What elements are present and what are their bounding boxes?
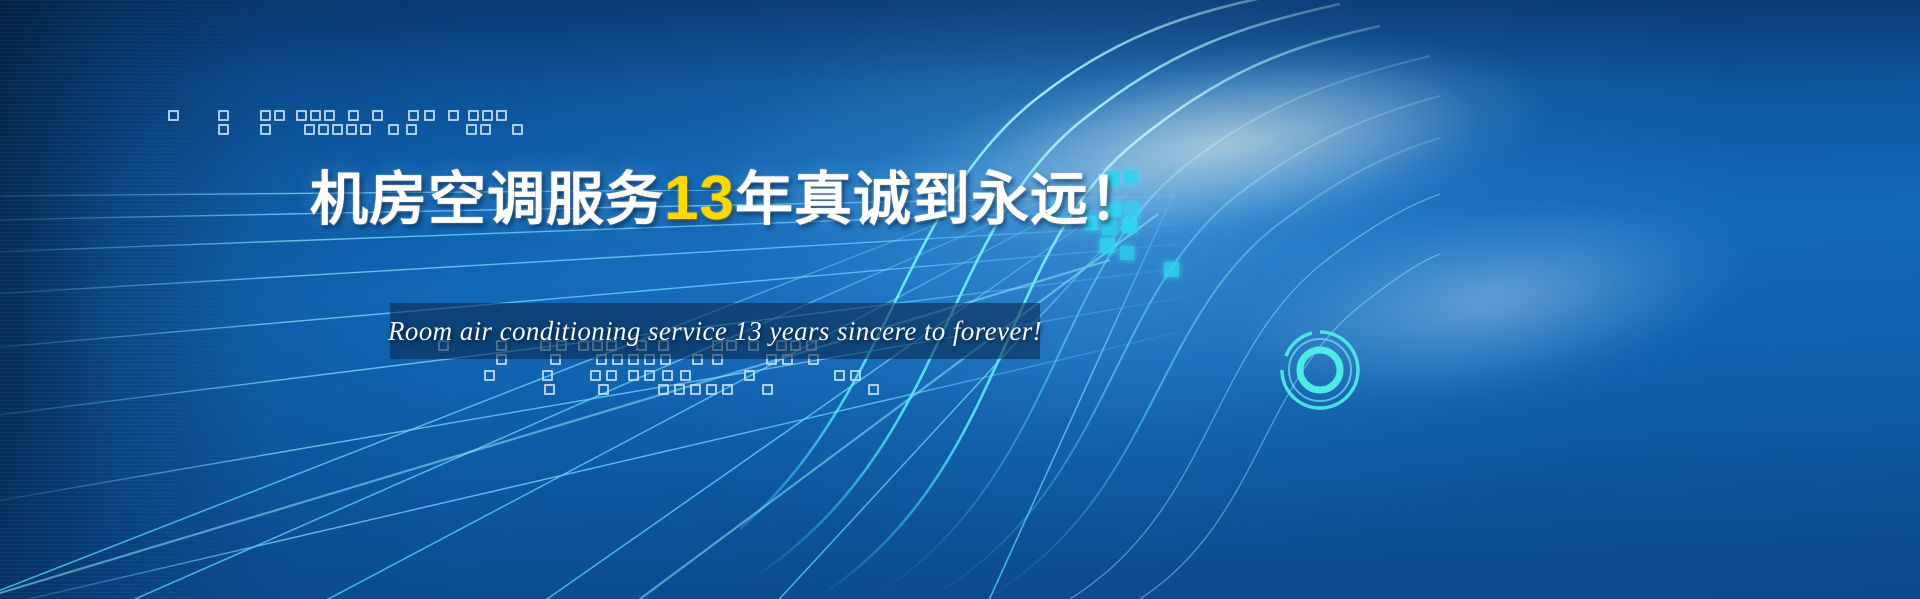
headline-prefix: 机房空调服务	[310, 167, 664, 232]
hero-banner: 机房空调服务13年真诚到永远！ Room air conditioning se…	[0, 0, 1920, 599]
server-rack-photo	[970, 0, 1920, 599]
hud-target-ring-icon	[1272, 322, 1368, 418]
dot-pattern-top	[160, 100, 560, 140]
headline-suffix: 年真诚到永远！	[735, 167, 1148, 232]
page-title: 机房空调服务13年真诚到永远！	[310, 168, 1148, 231]
headline-years-number: 13	[664, 164, 735, 233]
page-subtitle: Room air conditioning service 13 years s…	[390, 303, 1040, 359]
